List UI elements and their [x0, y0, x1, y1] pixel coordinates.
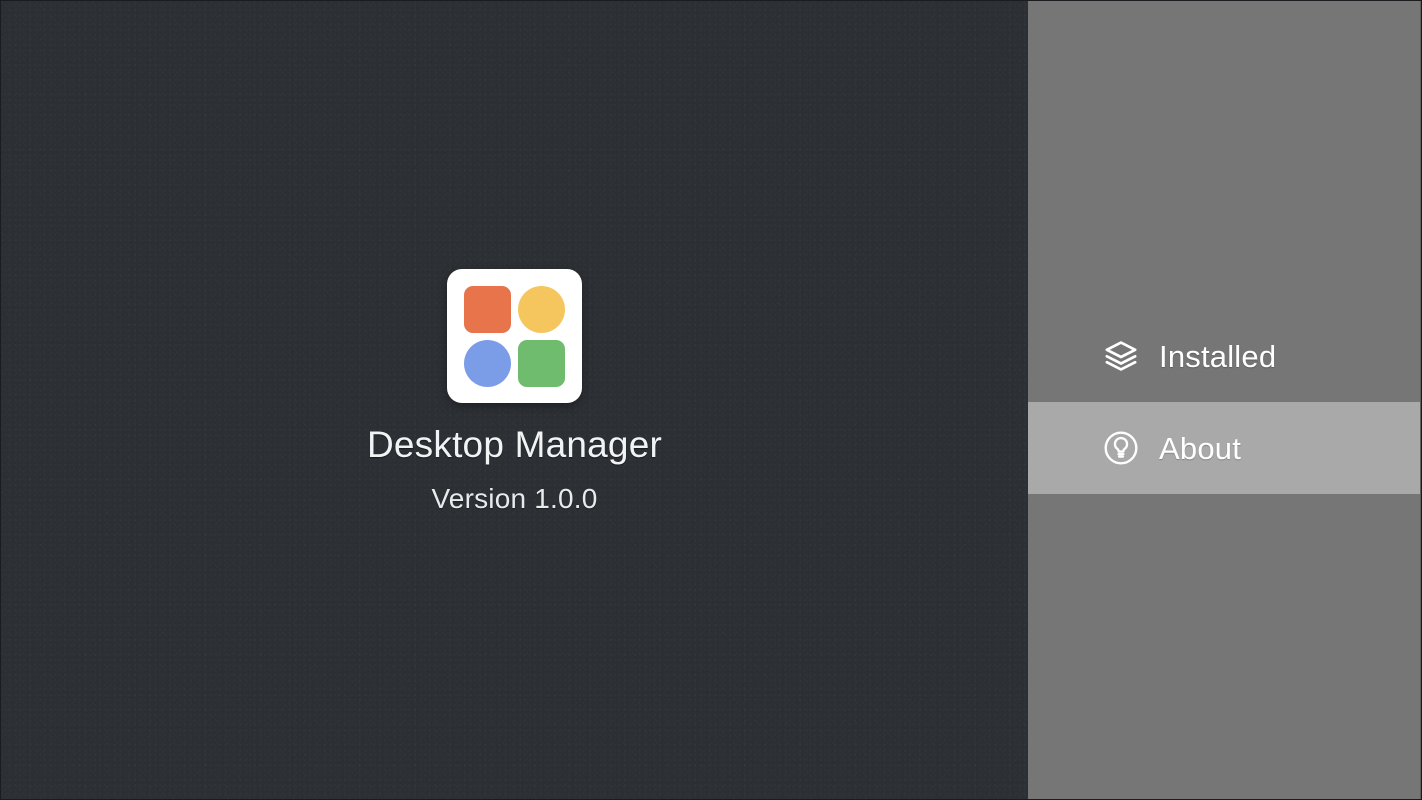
app-title: Desktop Manager — [367, 426, 662, 463]
lightbulb-circle-icon — [1103, 430, 1139, 466]
sidebar-item-about[interactable]: About — [1028, 402, 1420, 494]
desktop-manager-window: Desktop Manager Version 1.0.0 Installed — [0, 0, 1422, 800]
app-grid-logo-icon — [447, 269, 582, 403]
sidebar-item-installed[interactable]: Installed — [1028, 310, 1420, 402]
blue-circle-tile-icon — [464, 340, 511, 387]
sidebar-item-installed-label: Installed — [1159, 341, 1276, 372]
green-square-tile-icon — [518, 340, 565, 387]
yellow-circle-tile-icon — [518, 286, 565, 333]
sidebar-item-about-label: About — [1159, 433, 1241, 464]
app-version-label: Version 1.0.0 — [431, 485, 597, 513]
layers-icon — [1103, 338, 1139, 374]
orange-square-tile-icon — [464, 286, 511, 333]
about-content-pane: Desktop Manager Version 1.0.0 — [1, 1, 1028, 799]
about-info-block: Desktop Manager Version 1.0.0 — [1, 269, 1028, 513]
sidebar-nav: Installed About — [1028, 1, 1421, 799]
